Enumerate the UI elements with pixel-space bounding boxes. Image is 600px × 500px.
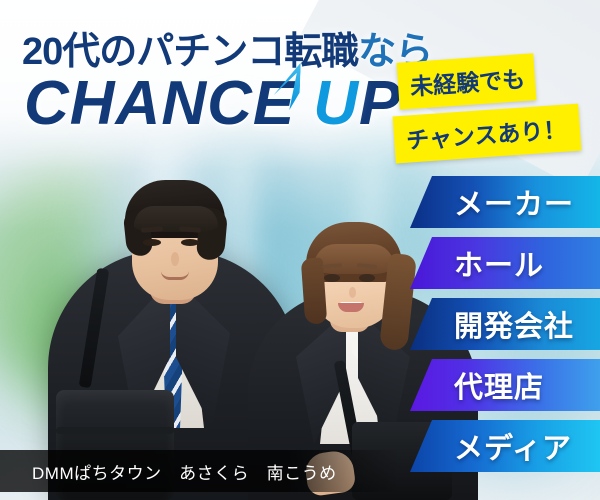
category-button-agency[interactable]: 代理店 xyxy=(410,359,600,411)
category-button-hall[interactable]: ホール xyxy=(410,237,600,289)
businessman-eye-right xyxy=(181,239,199,246)
logo-word-up: UP xyxy=(313,69,401,138)
category-button-media[interactable]: メディア xyxy=(410,420,600,472)
businesswoman-eye-right xyxy=(359,274,375,282)
headline: 20代のパチンコ転職なら xyxy=(22,20,452,75)
credit-bar: DMMぱちタウン あさくら 南こうめ xyxy=(0,450,400,492)
recruitment-banner: 20代のパチンコ転職なら CHANCEUP 未経験でも チャンスあり！ メーカー… xyxy=(0,0,600,500)
category-list: メーカー ホール 開発会社 代理店 メディア xyxy=(392,176,600,472)
headline-main: 20代のパチンコ転職 xyxy=(22,31,358,73)
businessman-briefcase-seam xyxy=(56,427,174,434)
logo-word-chance: CHANCE xyxy=(24,69,295,138)
promo-badge-line-2: チャンスあり！ xyxy=(393,104,582,164)
logo-letter-u: U xyxy=(313,69,359,138)
category-label: 代理店 xyxy=(454,364,544,406)
category-label: メディア xyxy=(454,425,572,467)
promo-badge: 未経験でも チャンスあり！ xyxy=(398,58,594,157)
category-button-maker[interactable]: メーカー xyxy=(410,176,600,228)
logo-chance-up: CHANCEUP xyxy=(24,68,401,139)
category-label: メーカー xyxy=(454,181,574,223)
businesswoman-eye-left xyxy=(324,274,340,282)
category-label: 開発会社 xyxy=(454,303,574,345)
category-label: ホール xyxy=(454,242,544,284)
businesswoman-fringe xyxy=(314,244,394,274)
promo-badge-line-1: 未経験でも xyxy=(397,53,537,109)
businesswoman-nose xyxy=(349,287,356,298)
businessman-nose xyxy=(171,252,179,266)
credit-text: DMMぱちタウン あさくら 南こうめ xyxy=(32,459,337,484)
category-button-developer[interactable]: 開発会社 xyxy=(410,298,600,350)
businessman-eye-left xyxy=(143,239,161,246)
